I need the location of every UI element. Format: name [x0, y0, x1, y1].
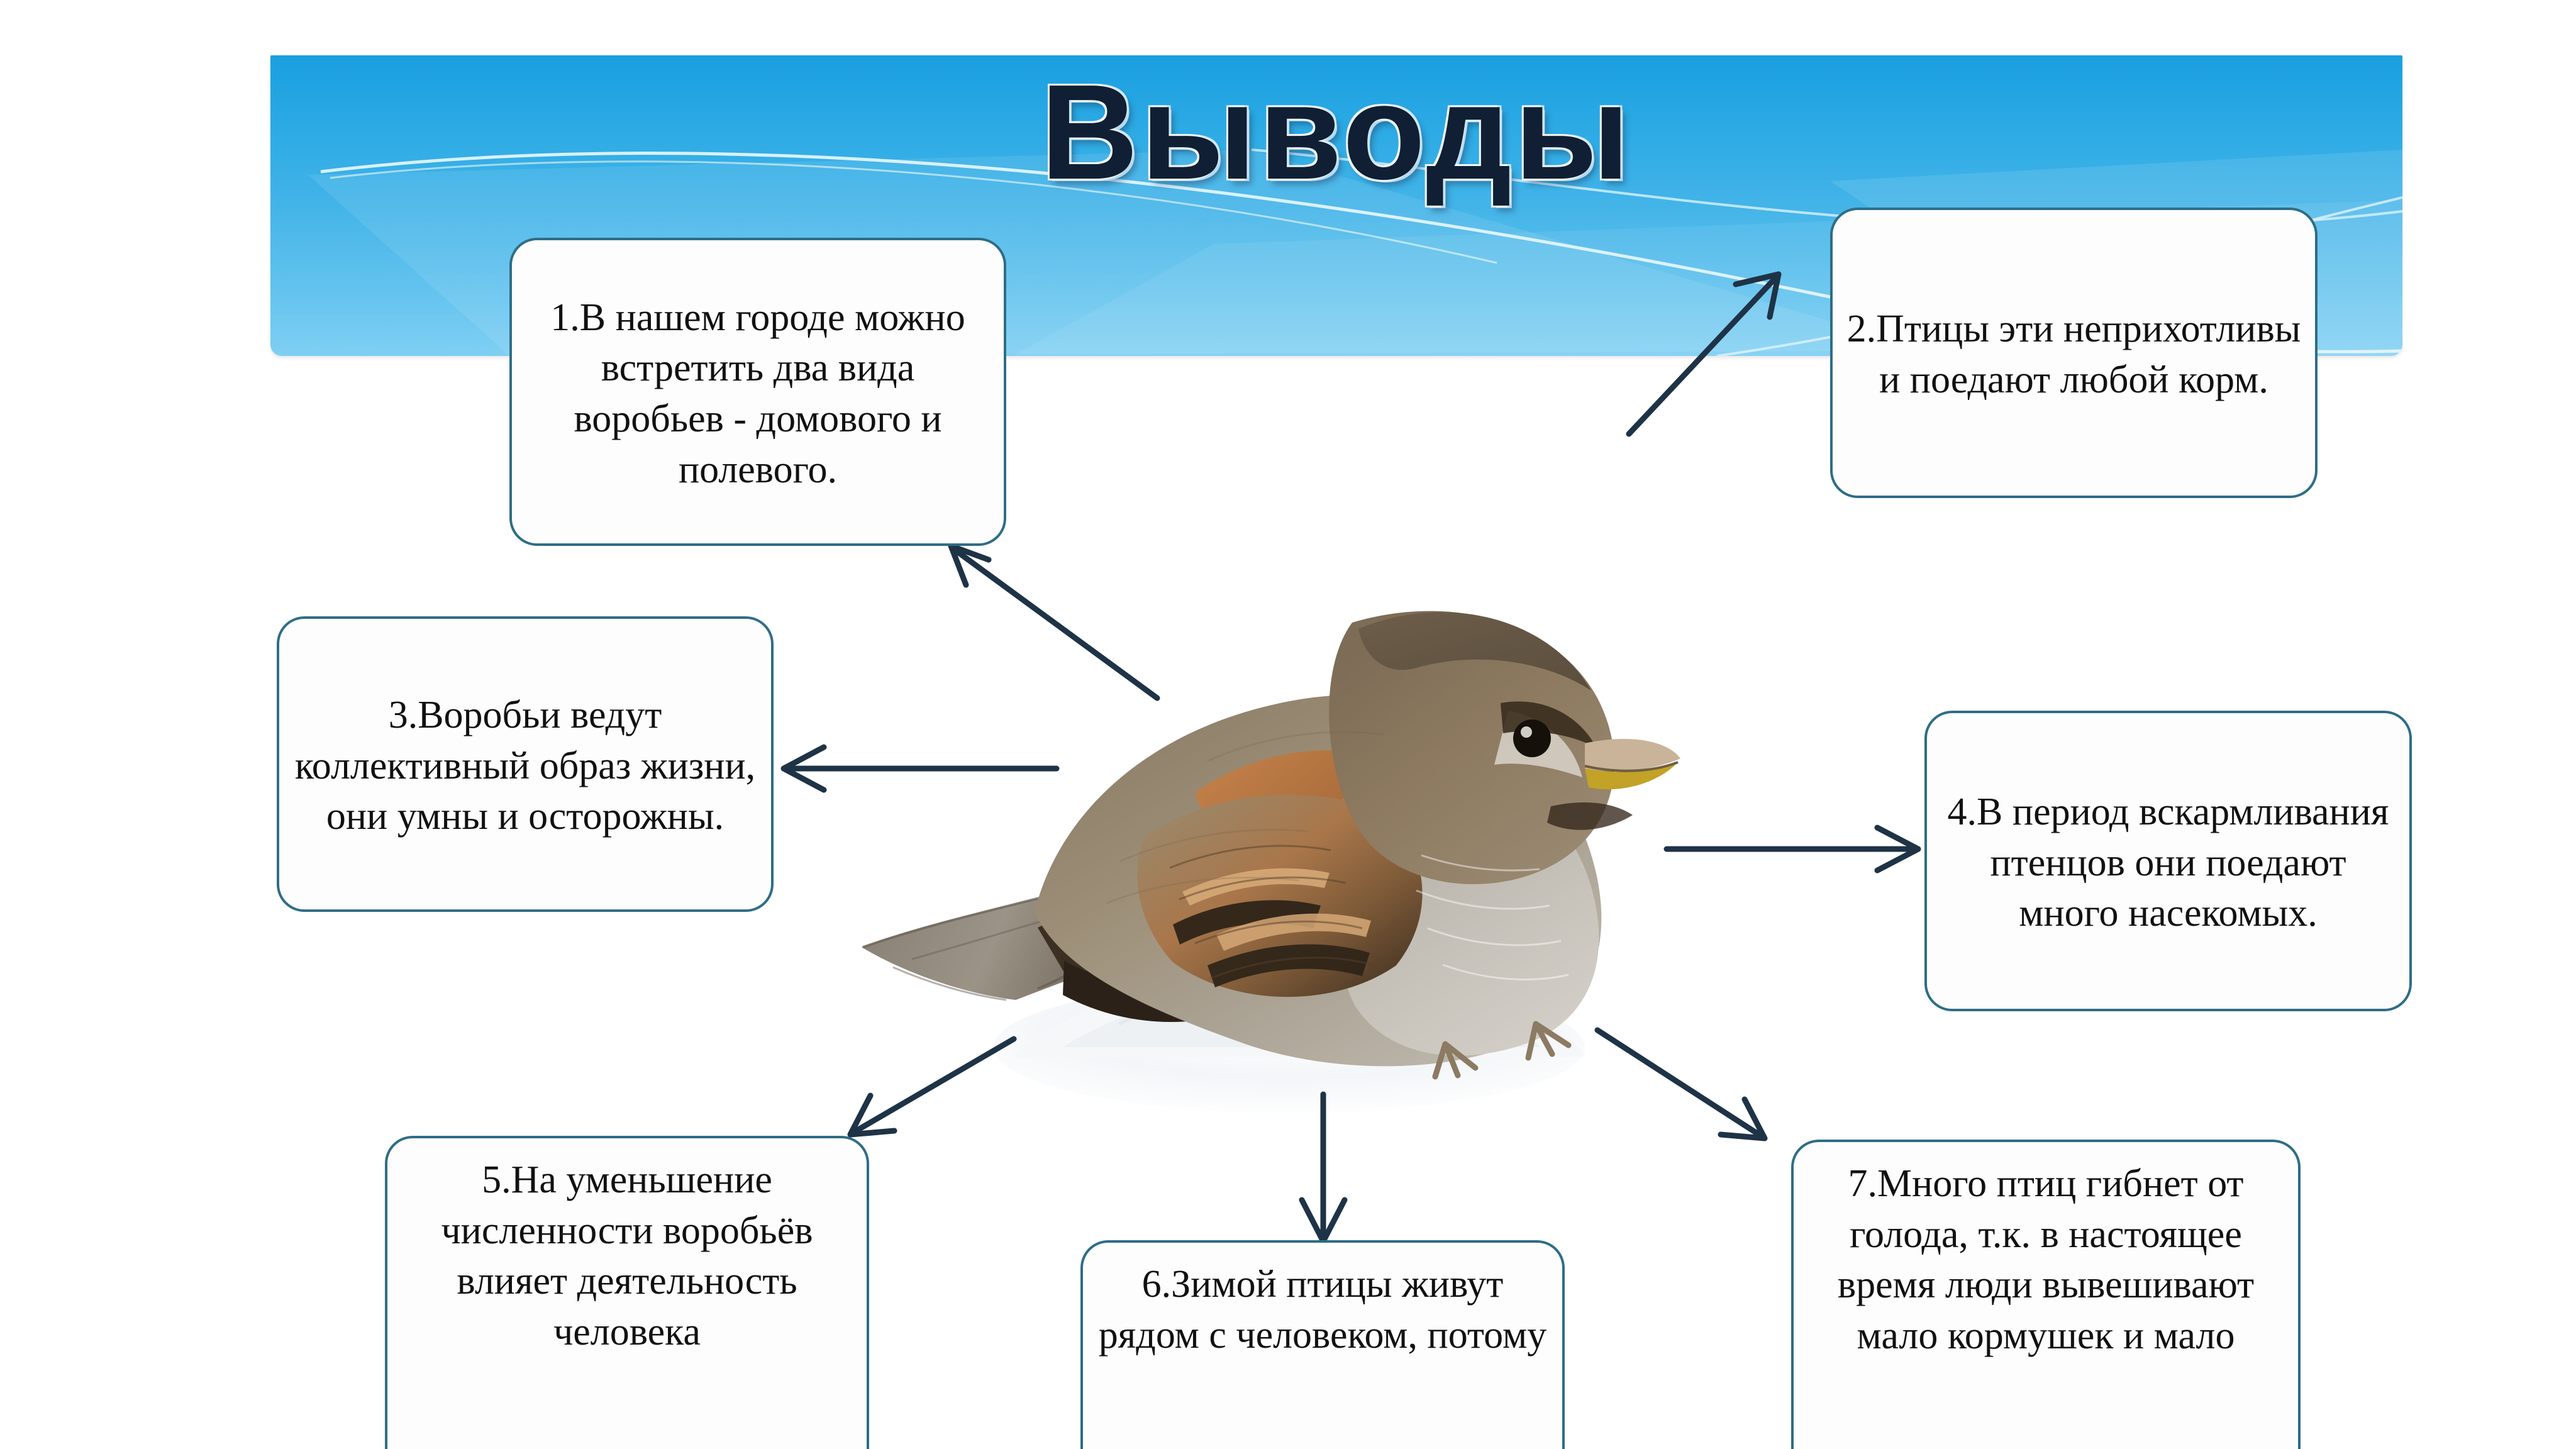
arrow-to-callout-6 — [1302, 1094, 1345, 1241]
callout-text-7: 7.Много птиц гибнет от голода, т.к. в на… — [1807, 1158, 2284, 1361]
callout-box-5[interactable]: 5.На уменьшение численности воробьёв вли… — [385, 1136, 869, 1449]
callout-box-1[interactable]: 1.В нашем городе можно встретить два вид… — [509, 238, 1006, 546]
callout-box-3[interactable]: 3.Воробьи ведут коллективный образ жизни… — [277, 616, 774, 912]
callout-text-5: 5.На уменьшение численности воробьёв вли… — [401, 1155, 853, 1357]
callout-text-1: 1.В нашем городе можно встретить два вид… — [526, 292, 990, 495]
callout-box-6[interactable]: 6.Зимой птицы живут рядом с человеком, п… — [1080, 1240, 1565, 1449]
callout-box-4[interactable]: 4.В период вскармливания птенцов они пое… — [1924, 711, 2412, 1011]
callout-box-7[interactable]: 7.Много птиц гибнет от голода, т.к. в на… — [1791, 1140, 2301, 1449]
callout-text-2: 2.Птицы эти неприхотливы и поедают любой… — [1846, 304, 2301, 405]
callout-text-3: 3.Воробьи ведут коллективный образ жизни… — [293, 690, 757, 842]
page-title: Выводы — [270, 64, 2402, 199]
presentation-slide: Выводы — [0, 0, 2576, 1449]
callout-box-2[interactable]: 2.Птицы эти неприхотливы и поедают любой… — [1830, 208, 2318, 498]
eye — [1513, 719, 1551, 757]
callout-text-6: 6.Зимой птицы живут рядом с человеком, п… — [1097, 1259, 1548, 1360]
callout-text-4: 4.В период вскармливания птенцов они пое… — [1941, 787, 2396, 939]
